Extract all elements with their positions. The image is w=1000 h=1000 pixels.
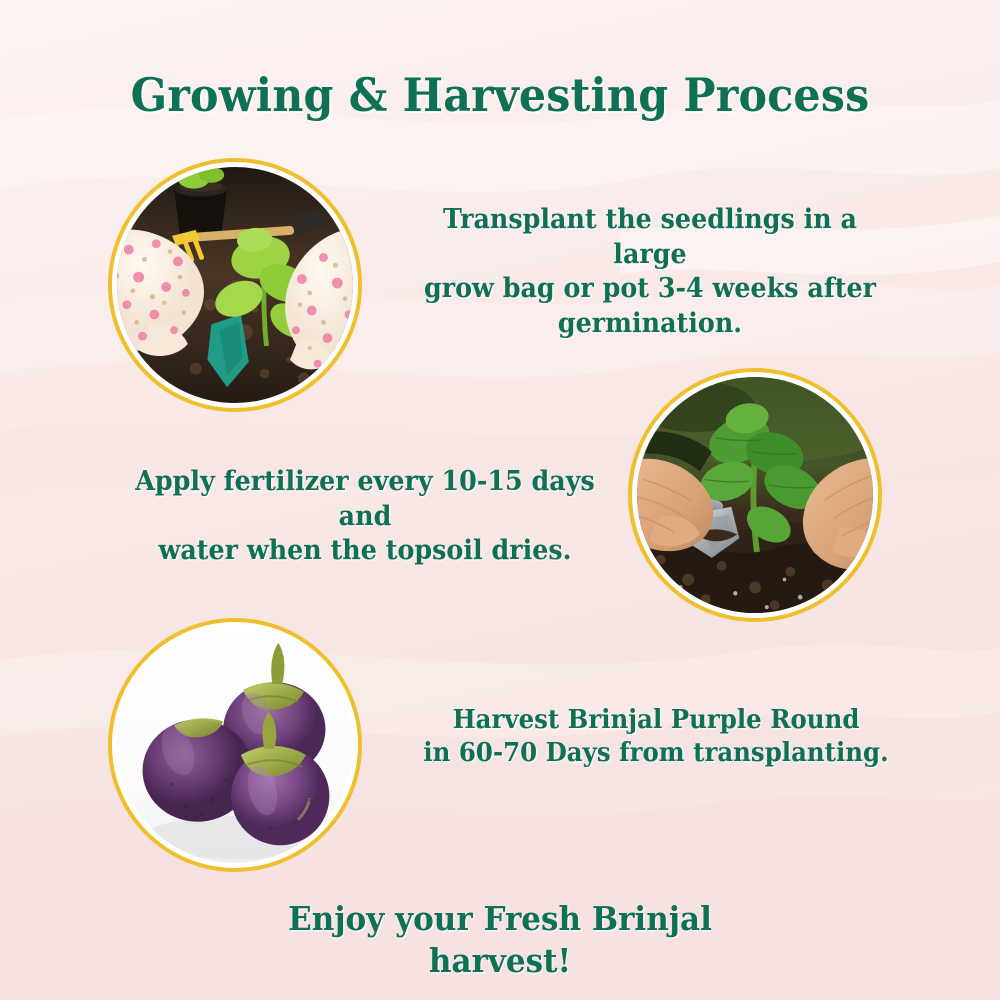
footer-message: Enjoy your Fresh Brinjal harvest! [30, 898, 970, 981]
step-2-photo-frame [628, 368, 882, 622]
purple-round-brinjal-icon [117, 627, 353, 863]
step-1-caption-line-2: grow bag or pot 3-4 weeks after [407, 272, 892, 307]
step-2-caption-line-2: water when the topsoil dries. [108, 534, 621, 569]
step-1-caption-line-3: germination. [407, 307, 892, 342]
footer-line-1: Enjoy your Fresh Brinjal [30, 898, 970, 940]
footer-line-2: harvest! [30, 940, 970, 982]
step-1-photo-frame [108, 158, 362, 412]
step-1-caption: Transplant the seedlings in a large grow… [407, 203, 892, 341]
page-title: Growing & Harvesting Process [35, 68, 965, 122]
step-3-caption-line-1: Harvest Brinjal Purple Round [413, 704, 898, 737]
gloved-hands-planting-icon [117, 167, 353, 403]
hands-trowel-planting-icon [637, 377, 873, 613]
step-3-photo-frame [108, 618, 362, 872]
step-3-caption-line-2: in 60-70 Days from transplanting. [413, 737, 898, 770]
step-3-caption: Harvest Brinjal Purple Round in 60-70 Da… [413, 704, 898, 771]
infographic-poster: Growing & Harvesting Process [0, 0, 1000, 1000]
step-2-caption-line-1: Apply fertilizer every 10-15 days and [108, 465, 621, 534]
step-2-caption: Apply fertilizer every 10-15 days and wa… [108, 465, 621, 569]
step-1-caption-line-1: Transplant the seedlings in a large [407, 203, 892, 272]
